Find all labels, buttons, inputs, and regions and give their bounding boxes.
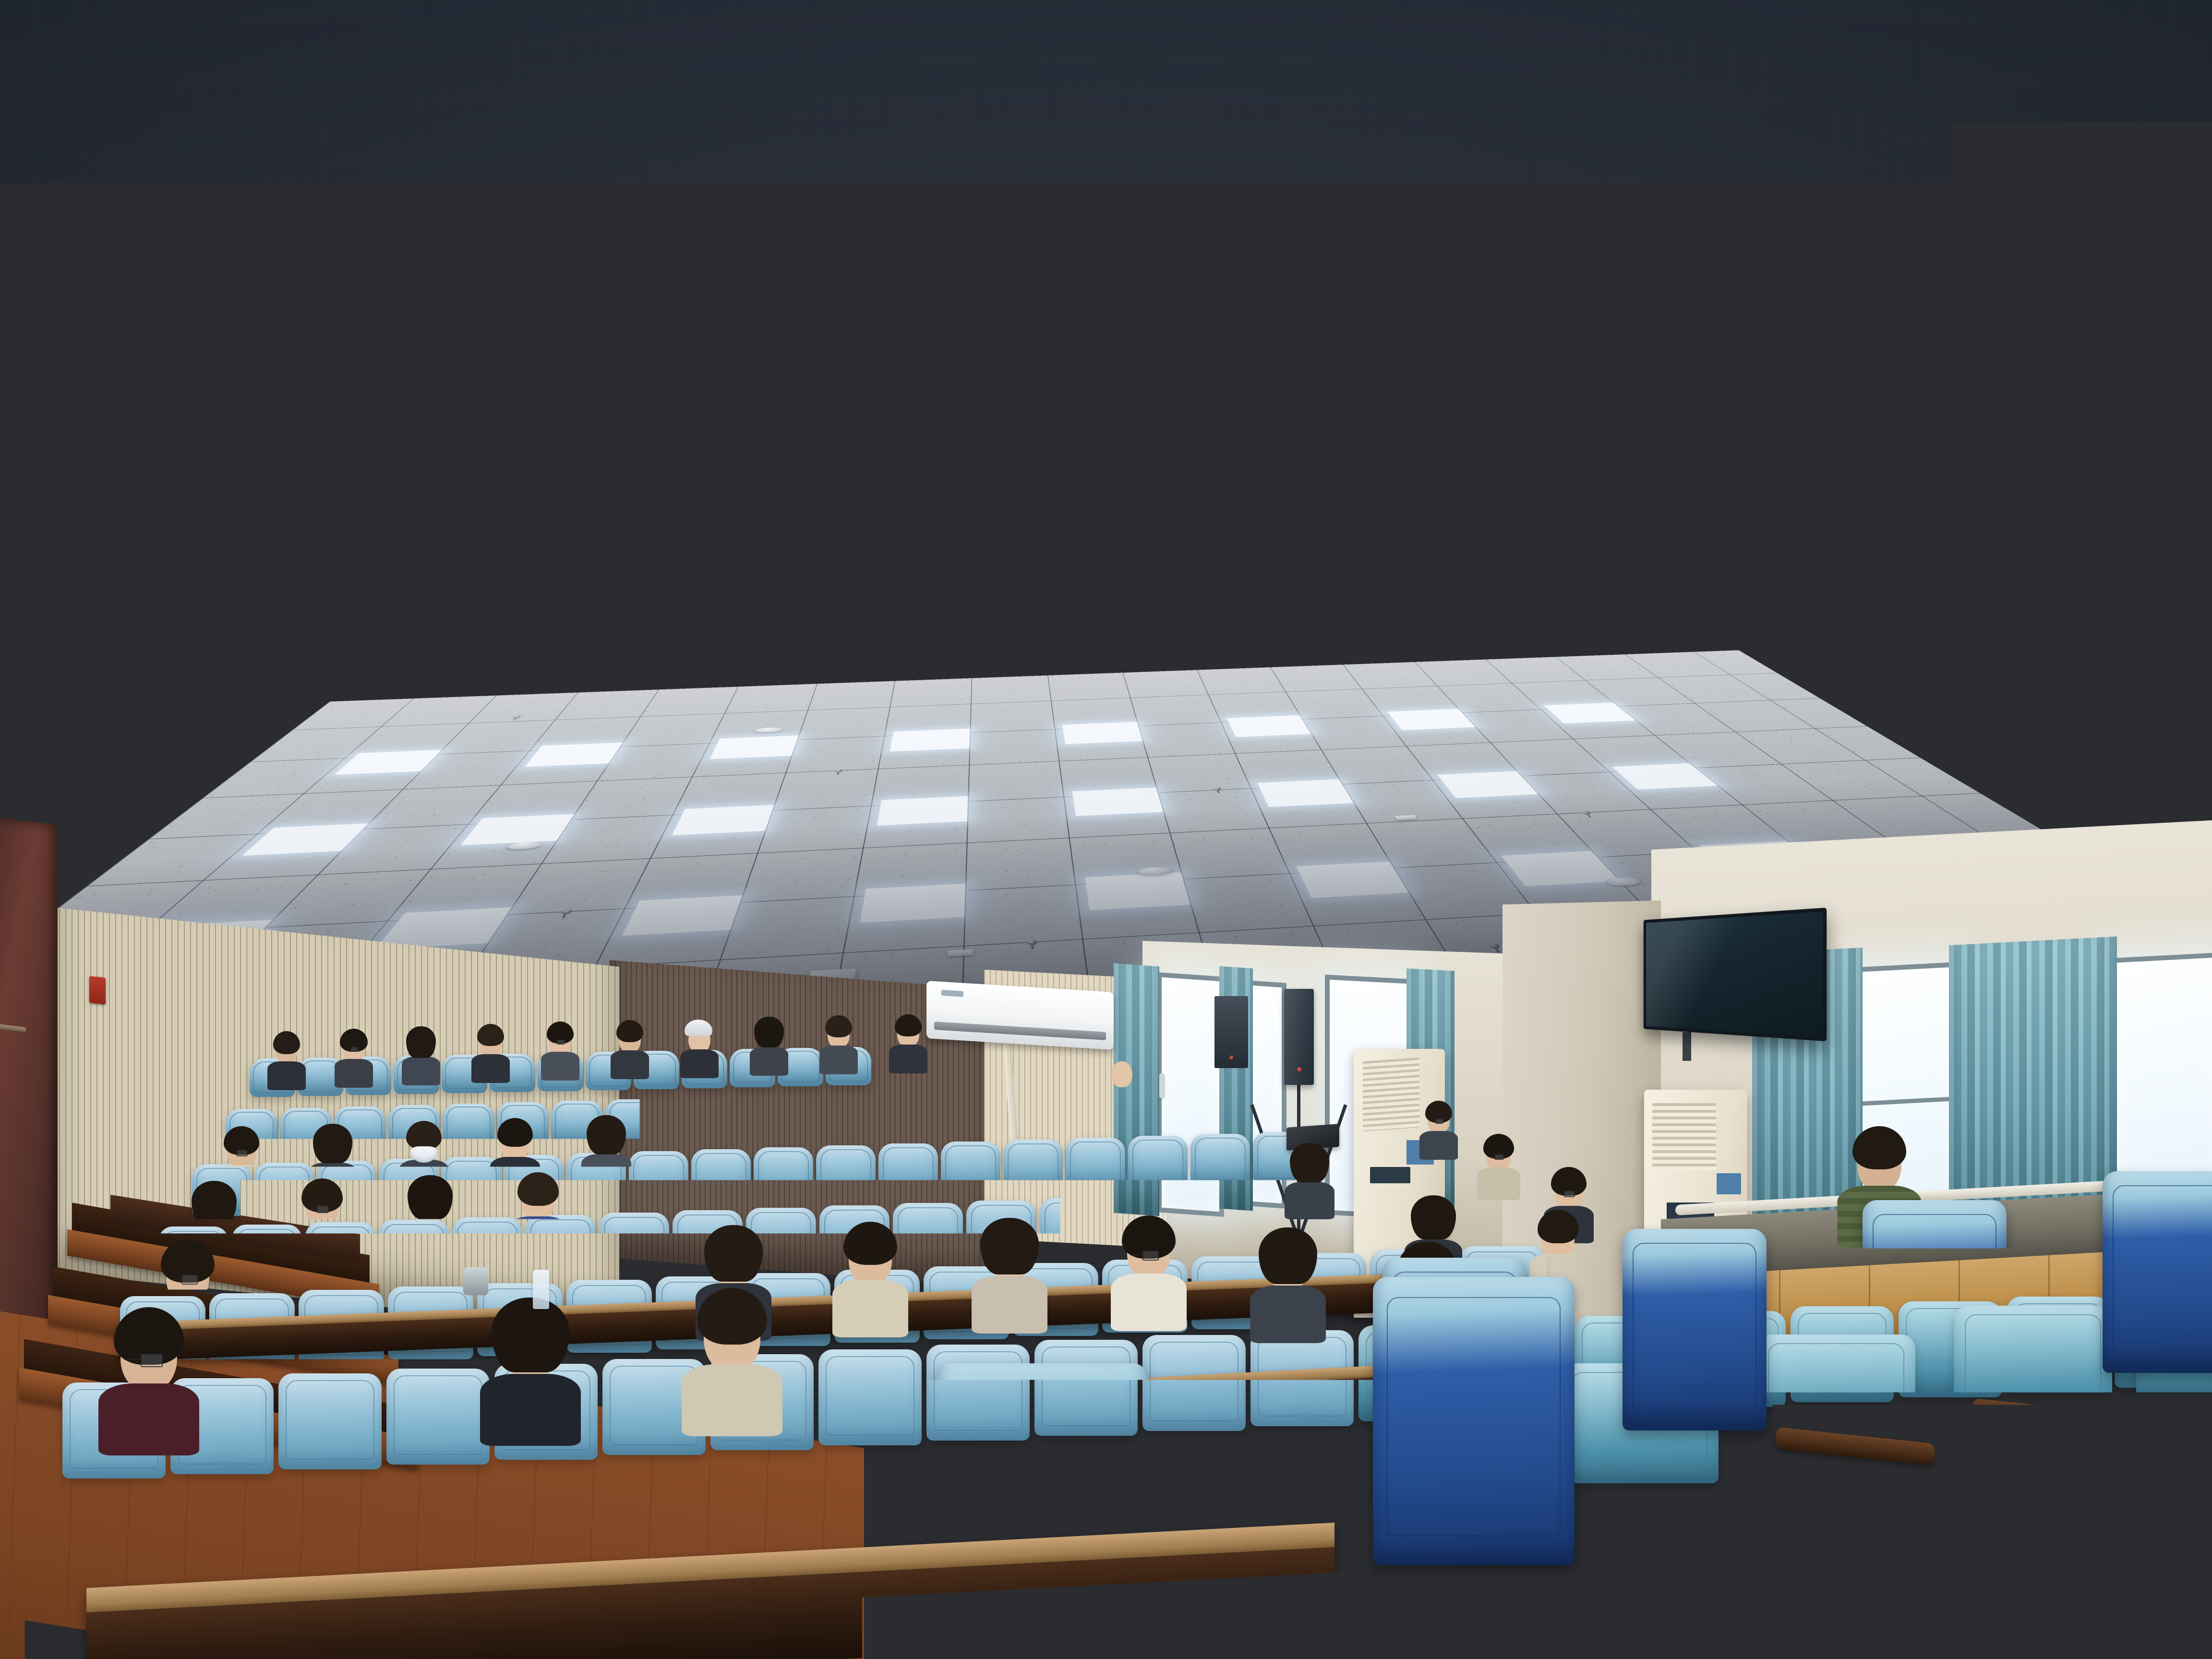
glasses-icon (1077, 1185, 1090, 1192)
hair (754, 1017, 784, 1047)
water-bottle (533, 1270, 549, 1309)
audience-member (1104, 1058, 1140, 1111)
hair (843, 1222, 897, 1265)
audience-member (1056, 1163, 1110, 1243)
glasses-icon (237, 1150, 248, 1156)
hair (1181, 1129, 1217, 1157)
audience-member (1229, 1094, 1269, 1155)
torso (1419, 1131, 1458, 1160)
hair (1852, 1126, 1906, 1169)
fire-alarm-icon (89, 976, 106, 1005)
hair (732, 1166, 777, 1211)
audience-member (674, 1117, 721, 1186)
auditorium-seat[interactable] (1623, 1229, 1767, 1431)
torso (1179, 1090, 1218, 1119)
audience-member (974, 1224, 1045, 1329)
hair (895, 1014, 922, 1036)
torso (611, 1050, 649, 1079)
hair (1062, 1079, 1095, 1112)
torso (509, 1216, 567, 1261)
hair (408, 1175, 453, 1219)
white-cap (685, 1020, 712, 1036)
hair (959, 1106, 998, 1145)
travel-mug (463, 1267, 488, 1295)
torso (673, 1152, 722, 1189)
torso (1103, 1085, 1141, 1114)
torso (682, 1364, 782, 1436)
hair (1234, 1091, 1264, 1116)
glasses-icon (640, 1196, 653, 1204)
audience-member (1114, 1222, 1184, 1326)
hair (950, 1161, 995, 1205)
hair (192, 1181, 237, 1225)
glasses-icon (181, 1274, 198, 1285)
audience-member (1181, 1063, 1216, 1116)
wall-speaker (1214, 996, 1248, 1068)
hair (815, 1061, 848, 1094)
hair (570, 1067, 603, 1100)
hair (1259, 1227, 1317, 1284)
glasses-icon (911, 1079, 921, 1085)
hair (734, 1063, 765, 1088)
torso (1111, 1274, 1187, 1331)
glasses-icon (141, 1354, 163, 1367)
wall-mounted-tv (1644, 908, 1827, 1041)
hair (273, 1031, 300, 1054)
audience-member (686, 1296, 778, 1431)
hair (1538, 1210, 1579, 1243)
torso (1250, 1286, 1326, 1343)
glasses-icon (265, 1096, 275, 1102)
water-bottle (787, 1176, 802, 1211)
glasses-icon (350, 1046, 359, 1052)
torso (1054, 1202, 1112, 1246)
torso (480, 1374, 581, 1446)
hair (982, 1058, 1012, 1083)
hair (406, 1121, 442, 1150)
torso (1477, 1167, 1520, 1200)
audience-member (511, 1177, 565, 1258)
audience-member (1479, 1138, 1519, 1198)
hair (406, 1026, 436, 1058)
hair (477, 1024, 504, 1046)
audience-member (485, 1306, 576, 1440)
hair (1290, 1143, 1329, 1182)
glasses-icon (1564, 1190, 1575, 1197)
glasses-icon (973, 1129, 984, 1136)
glasses-icon (1142, 1250, 1159, 1261)
tv-mount-bracket (1683, 1032, 1691, 1061)
hair (410, 1071, 441, 1096)
audience-member (103, 1315, 194, 1450)
glasses-icon (501, 1089, 510, 1095)
hair (1185, 1060, 1212, 1082)
split-ac-unit (926, 981, 1114, 1050)
audience-member (835, 1228, 905, 1333)
audience-member (542, 1025, 578, 1078)
audience-member (811, 1065, 852, 1125)
hair (492, 1298, 569, 1372)
hair (313, 1124, 352, 1163)
hair (587, 1115, 626, 1154)
torso (810, 1094, 853, 1127)
hair (842, 1164, 884, 1197)
torso (972, 1276, 1047, 1334)
audience-member (1253, 1234, 1323, 1338)
glasses-icon (1494, 1154, 1504, 1160)
hair (517, 1172, 559, 1206)
audience-member (730, 1067, 770, 1127)
audience-member (612, 1023, 648, 1076)
torso (98, 1383, 199, 1455)
hair (497, 1118, 533, 1147)
hair (867, 1108, 902, 1137)
hair (1293, 1181, 1334, 1214)
hair (980, 1218, 1039, 1274)
pa-speaker (1284, 989, 1314, 1085)
auditorium-seat[interactable] (1863, 1200, 2007, 1402)
hair (825, 1015, 852, 1037)
hair (653, 1065, 684, 1090)
lecture-hall-photo (0, 0, 2212, 1659)
glasses-icon (316, 1205, 329, 1213)
glasses-icon (590, 1263, 607, 1274)
hair (330, 1074, 363, 1107)
hair (704, 1225, 763, 1282)
auditorium-seat[interactable] (2103, 1171, 2212, 1373)
glasses-icon (693, 1136, 704, 1143)
torso (832, 1280, 908, 1337)
auditorium-seat[interactable] (1373, 1277, 1575, 1565)
hair (697, 1288, 767, 1345)
torso (1227, 1124, 1271, 1157)
audience-member (1421, 1104, 1456, 1157)
hair (1411, 1195, 1456, 1239)
audience-member (682, 1022, 717, 1074)
glasses-icon (557, 1039, 565, 1045)
auditorium-seat[interactable] (1334, 1189, 1404, 1250)
hair (1052, 1119, 1092, 1158)
hair (294, 1236, 352, 1293)
hair (616, 1020, 643, 1042)
hair (771, 1110, 811, 1150)
hair (1107, 1055, 1137, 1086)
hair (1171, 1166, 1216, 1211)
torso (728, 1096, 771, 1129)
glasses-icon (1435, 1118, 1443, 1124)
